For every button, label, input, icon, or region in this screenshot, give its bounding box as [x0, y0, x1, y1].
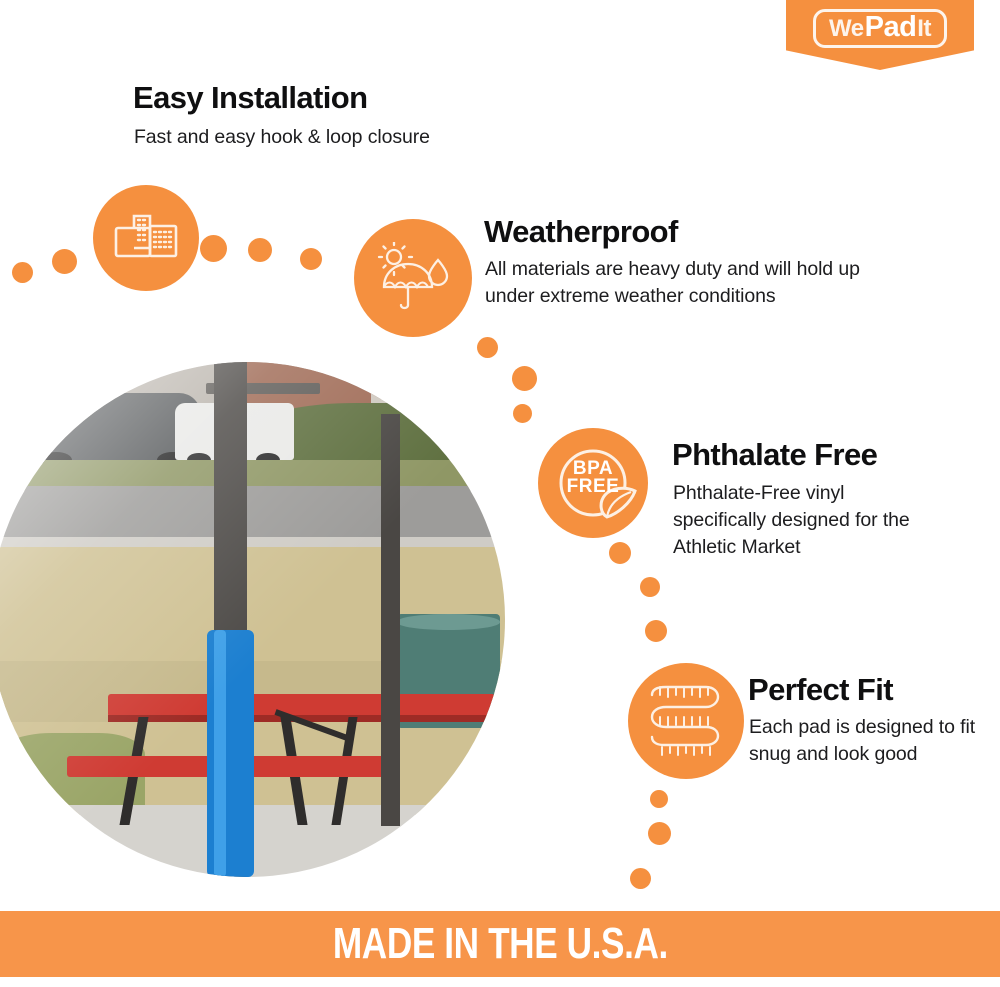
velcro-strip-icon — [93, 185, 199, 291]
trail-dot — [200, 235, 227, 262]
feature-desc-perfect-fit: Each pad is designed to fit snug and loo… — [749, 714, 979, 768]
feature-desc-easy-installation: Fast and easy hook & loop closure — [134, 124, 554, 151]
trail-dot — [645, 620, 667, 642]
trail-dot — [650, 790, 668, 808]
brand-logo-frame: We Pad It — [813, 9, 947, 48]
photo-scene — [0, 362, 505, 877]
trail-dot — [52, 249, 77, 274]
measuring-tape-icon — [628, 663, 744, 779]
bpa-free-leaf-icon: BPA FREE — [538, 428, 648, 538]
bpa-free-icon-text: BPA FREE — [538, 460, 648, 496]
trail-dot — [512, 366, 537, 391]
brand-logo-we: We — [829, 17, 864, 41]
product-photo — [0, 362, 505, 877]
trail-dot — [300, 248, 322, 270]
feature-desc-phthalate-free: Phthalate-Free vinyl specifically design… — [673, 480, 933, 561]
brand-logo-pad: Pad — [865, 13, 917, 42]
made-in-usa-banner: MADE IN THE U.S.A. — [0, 911, 1000, 977]
trail-dot — [477, 337, 498, 358]
trail-dot — [513, 404, 532, 423]
photo-overlay-fade — [0, 362, 505, 877]
sun-umbrella-raindrop-icon — [354, 219, 472, 337]
trail-dot — [630, 868, 651, 889]
trail-dot — [12, 262, 33, 283]
feature-desc-weatherproof: All materials are heavy duty and will ho… — [485, 256, 905, 310]
feature-title-phthalate-free: Phthalate Free — [672, 437, 877, 473]
feature-title-perfect-fit: Perfect Fit — [748, 672, 893, 708]
made-in-usa-text: MADE IN THE U.S.A. — [332, 919, 667, 969]
brand-logo-badge: We Pad It — [786, 0, 974, 70]
trail-dot — [609, 542, 631, 564]
trail-dot — [640, 577, 660, 597]
brand-logo-it: It — [917, 17, 931, 41]
feature-title-weatherproof: Weatherproof — [484, 214, 678, 250]
trail-dot — [648, 822, 671, 845]
product-infographic: We Pad It Easy Installation Fast and eas… — [0, 0, 1000, 987]
feature-title-easy-installation: Easy Installation — [133, 80, 367, 116]
trail-dot — [248, 238, 272, 262]
